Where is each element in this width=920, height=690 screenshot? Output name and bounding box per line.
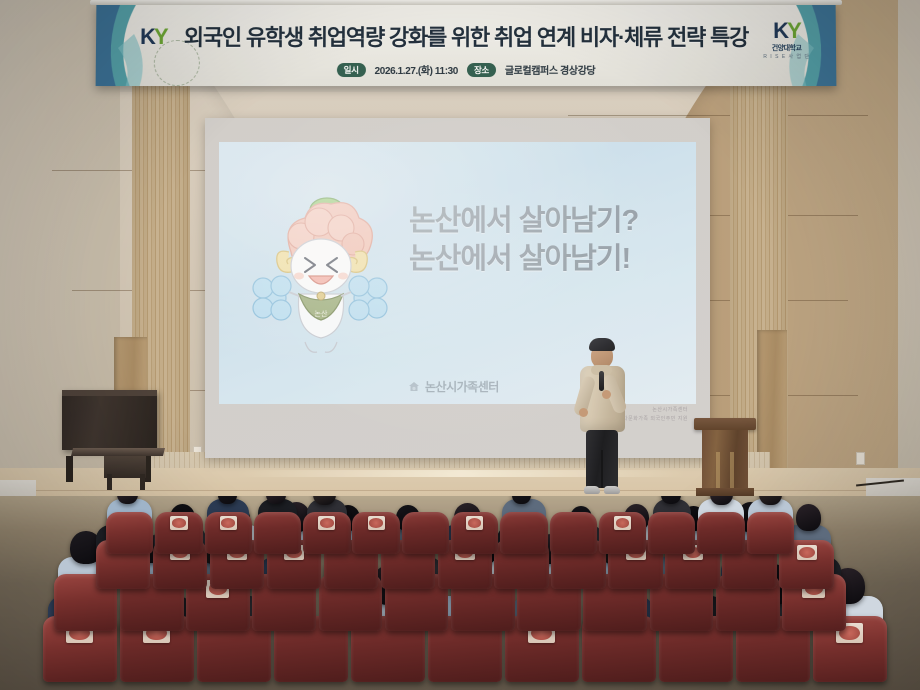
seat-back-sign	[368, 516, 385, 529]
auditorium-seat[interactable]	[550, 512, 597, 554]
auditorium-seat[interactable]	[648, 512, 695, 554]
audience-seating	[0, 496, 920, 690]
banner-date-label: 일시	[337, 63, 366, 77]
banner-rod	[90, 0, 842, 5]
auditorium-seat[interactable]	[254, 512, 301, 554]
microphone	[599, 371, 604, 391]
banner-place-value: 글로컬캠퍼스 경상강당	[505, 62, 595, 77]
banner-place-label: 장소	[467, 63, 496, 77]
seat-back-sign	[170, 516, 187, 529]
banner-university-name: 건양대학교	[772, 43, 802, 53]
banner-program-name: R I S E 사 업 단	[763, 53, 810, 60]
audience-head	[796, 504, 821, 531]
presenter	[578, 338, 626, 498]
seat-back-sign	[797, 545, 817, 560]
banner-date-value: 2026.1.27.(화) 11:30	[375, 62, 458, 77]
beanie	[589, 338, 615, 351]
seat-back-sign	[466, 516, 483, 529]
auditorium-seat[interactable]	[106, 512, 153, 554]
auditorium-seat[interactable]	[402, 512, 449, 554]
wall-outlet-right	[856, 452, 865, 465]
banner-logo-right: KY 건양대학교 R I S E 사 업 단	[763, 20, 810, 60]
banner-subtitle: 일시 2026.1.27.(화) 11:30 장소 글로컬캠퍼스 경상강당	[96, 62, 837, 77]
seat-back-sign	[318, 516, 335, 529]
upright-piano	[62, 390, 167, 478]
banner-title: 외국인 유학생 취업역량 강화를 위한 취업 연계 비자·체류 전략 특강	[96, 20, 836, 52]
auditorium-photo: 논산 논산에서 살아남기? 논산에서 살아남기!	[0, 0, 920, 690]
seat-back-sign	[220, 516, 237, 529]
auditorium-seat[interactable]	[747, 512, 794, 554]
auditorium-seat[interactable]	[697, 512, 744, 554]
seat-back-sign	[614, 516, 631, 529]
wooden-lectern	[694, 418, 756, 498]
projection-screen: 논산 논산에서 살아남기? 논산에서 살아남기!	[205, 118, 710, 458]
auditorium-seat[interactable]	[500, 512, 547, 554]
event-banner: KY 외국인 유학생 취업역량 강화를 위한 취업 연계 비자·체류 전략 특강…	[96, 4, 837, 86]
